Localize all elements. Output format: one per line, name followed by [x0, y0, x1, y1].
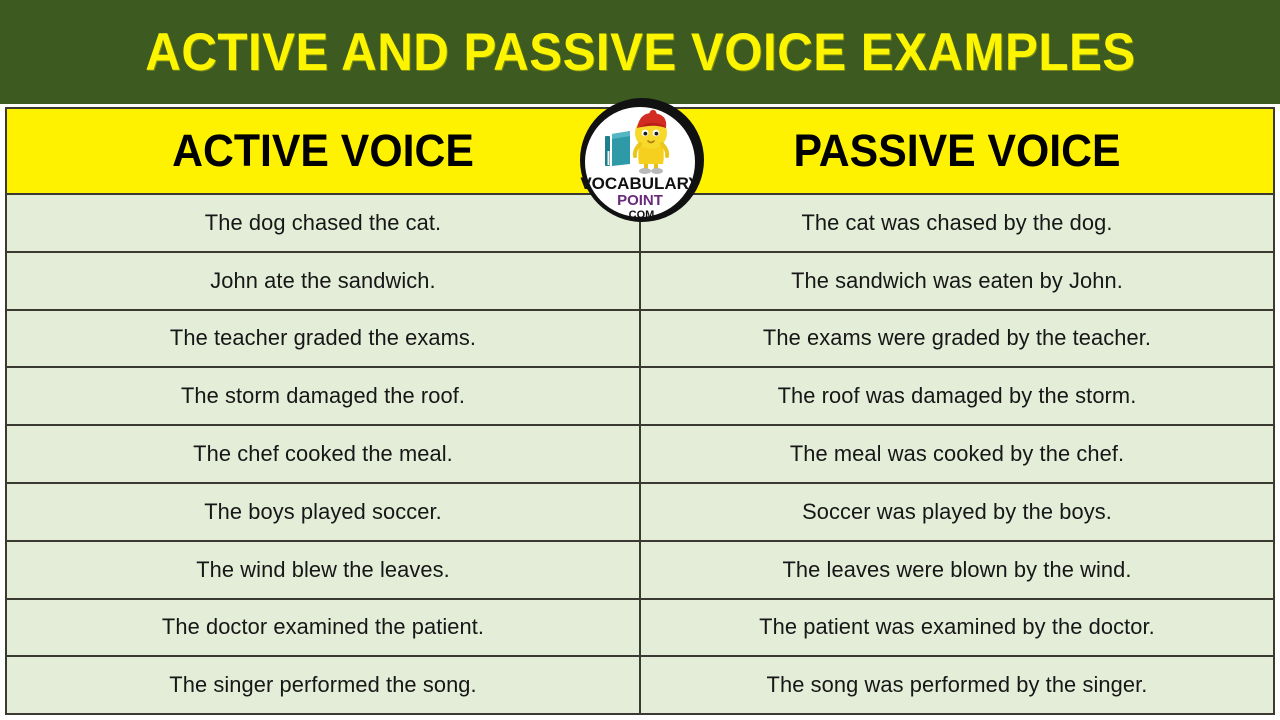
passive-voice-cell: The roof was damaged by the storm.: [640, 367, 1274, 425]
passive-voice-cell: The patient was examined by the doctor.: [640, 599, 1274, 657]
table-row: The wind blew the leaves. The leaves wer…: [6, 541, 1274, 599]
column-header-active-voice: ACTIVE VOICE: [6, 108, 640, 194]
passive-voice-text: The patient was examined by the doctor.: [658, 614, 1256, 640]
passive-voice-text: The leaves were blown by the wind.: [658, 557, 1256, 583]
active-voice-cell: The doctor examined the patient.: [6, 599, 640, 657]
active-voice-text: The boys played soccer.: [24, 499, 622, 525]
active-voice-cell: The boys played soccer.: [6, 483, 640, 541]
table-row: The singer performed the song. The song …: [6, 656, 1274, 714]
passive-voice-cell: The meal was cooked by the chef.: [640, 425, 1274, 483]
title-banner: ACTIVE AND PASSIVE VOICE EXAMPLES: [0, 0, 1280, 104]
passive-voice-text: Soccer was played by the boys.: [658, 499, 1256, 525]
table-row: The doctor examined the patient. The pat…: [6, 599, 1274, 657]
active-voice-text: The teacher graded the exams.: [24, 325, 622, 351]
poster-root: ACTIVE AND PASSIVE VOICE EXAMPLES ACTIVE…: [0, 0, 1280, 720]
passive-voice-text: The cat was chased by the dog.: [658, 210, 1256, 236]
table-body: The dog chased the cat. The cat was chas…: [6, 194, 1274, 714]
passive-voice-text: The roof was damaged by the storm.: [658, 383, 1256, 409]
active-voice-text: The wind blew the leaves.: [24, 557, 622, 583]
page-title: ACTIVE AND PASSIVE VOICE EXAMPLES: [145, 26, 1135, 79]
active-voice-text: The singer performed the song.: [24, 672, 622, 698]
passive-voice-cell: The sandwich was eaten by John.: [640, 252, 1274, 310]
active-voice-text: The dog chased the cat.: [24, 210, 622, 236]
column-header-active-voice-label: ACTIVE VOICE: [30, 125, 615, 177]
active-voice-cell: The dog chased the cat.: [6, 194, 640, 252]
passive-voice-cell: Soccer was played by the boys.: [640, 483, 1274, 541]
column-header-passive-voice: PASSIVE VOICE: [640, 108, 1274, 194]
column-header-passive-voice-label: PASSIVE VOICE: [664, 125, 1249, 177]
active-voice-text: The doctor examined the patient.: [24, 614, 622, 640]
logo-line1: VOCABULARY: [580, 174, 700, 193]
brand-logo: VOCABULARY POINT .COM: [578, 96, 706, 224]
active-voice-cell: The teacher graded the exams.: [6, 310, 640, 368]
table-row: The chef cooked the meal. The meal was c…: [6, 425, 1274, 483]
passive-voice-cell: The song was performed by the singer.: [640, 656, 1274, 714]
passive-voice-text: The song was performed by the singer.: [658, 672, 1256, 698]
table-row: The boys played soccer. Soccer was playe…: [6, 483, 1274, 541]
table-row: John ate the sandwich. The sandwich was …: [6, 252, 1274, 310]
active-voice-cell: The chef cooked the meal.: [6, 425, 640, 483]
active-voice-text: The storm damaged the roof.: [24, 383, 622, 409]
passive-voice-text: The meal was cooked by the chef.: [658, 441, 1256, 467]
active-voice-cell: The singer performed the song.: [6, 656, 640, 714]
passive-voice-cell: The exams were graded by the teacher.: [640, 310, 1274, 368]
passive-voice-text: The exams were graded by the teacher.: [658, 325, 1256, 351]
active-voice-cell: John ate the sandwich.: [6, 252, 640, 310]
passive-voice-cell: The cat was chased by the dog.: [640, 194, 1274, 252]
active-voice-text: The chef cooked the meal.: [24, 441, 622, 467]
active-voice-cell: The wind blew the leaves.: [6, 541, 640, 599]
logo-line3: .COM: [626, 209, 655, 221]
passive-voice-text: The sandwich was eaten by John.: [658, 268, 1256, 294]
logo-line2: POINT: [617, 192, 663, 209]
active-voice-cell: The storm damaged the roof.: [6, 367, 640, 425]
table-row: The storm damaged the roof. The roof was…: [6, 367, 1274, 425]
table-row: The teacher graded the exams. The exams …: [6, 310, 1274, 368]
book-icon: [605, 131, 630, 166]
passive-voice-cell: The leaves were blown by the wind.: [640, 541, 1274, 599]
active-voice-text: John ate the sandwich.: [24, 268, 622, 294]
